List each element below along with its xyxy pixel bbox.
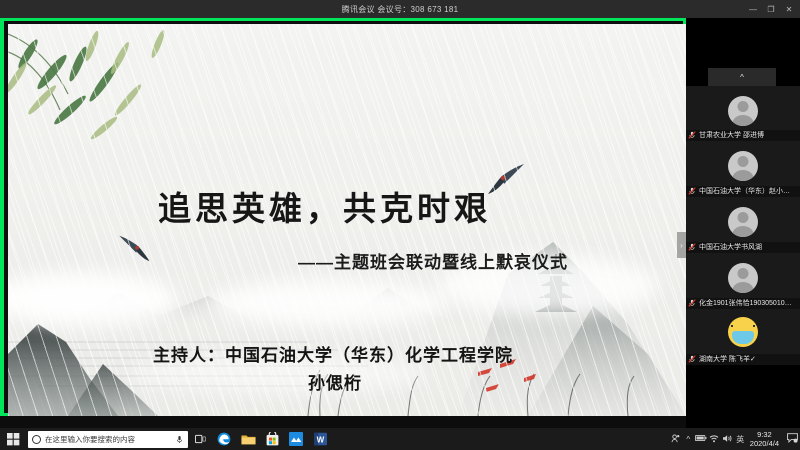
minimize-button[interactable]: — bbox=[744, 0, 762, 18]
show-hidden-icons-button[interactable]: ^ bbox=[682, 435, 695, 444]
scroll-up-button[interactable]: ^ bbox=[708, 68, 776, 86]
action-center-icon bbox=[787, 433, 798, 443]
taskbar-clock[interactable]: 9:32 2020/4/4 bbox=[750, 430, 779, 448]
taskbar-app-file-explorer[interactable] bbox=[236, 428, 260, 450]
mic-muted-icon bbox=[688, 355, 696, 363]
participant-name: 湖南大学 陈飞羊✓ bbox=[686, 354, 800, 365]
wifi-icon[interactable] bbox=[708, 434, 721, 445]
participant-video-rail: ^ 甘肃农业大学 邵进博 中国石油大学（华东）赵小… 中国石油大学书风湖 bbox=[686, 18, 800, 432]
taskbar-app-microsoft-store[interactable] bbox=[260, 428, 284, 450]
notifications-button[interactable] bbox=[784, 433, 800, 445]
avatar bbox=[728, 151, 758, 181]
people-icon[interactable] bbox=[669, 434, 682, 445]
slide-title: 追思英雄，共克时艰 bbox=[158, 182, 498, 230]
participant-name: 中国石油大学书风湖 bbox=[686, 242, 800, 253]
people-glyph bbox=[671, 434, 680, 443]
volume-icon[interactable] bbox=[721, 434, 734, 445]
participant-name: 甘肃农业大学 邵进博 bbox=[686, 130, 800, 141]
taskbar-app-edge[interactable] bbox=[212, 428, 236, 450]
participant-tile[interactable]: 甘肃农业大学 邵进博 bbox=[686, 86, 800, 141]
avatar bbox=[728, 263, 758, 293]
meeting-app-icon bbox=[289, 432, 303, 446]
taskbar-app-word[interactable]: W bbox=[308, 428, 332, 450]
cortana-circle-icon bbox=[32, 435, 41, 444]
battery-glyph bbox=[695, 434, 707, 442]
windows-logo-icon bbox=[7, 433, 20, 446]
store-icon bbox=[266, 432, 279, 446]
edge-icon bbox=[217, 432, 231, 446]
participant-tile[interactable]: 湖南大学 陈飞羊✓ bbox=[686, 309, 800, 365]
mic-muted-icon bbox=[688, 131, 696, 139]
slide-subtitle: ——主题班会联动暨线上默哀仪式 bbox=[298, 248, 568, 273]
avatar bbox=[728, 207, 758, 237]
clock-date: 2020/4/4 bbox=[750, 439, 779, 448]
mic-muted-icon bbox=[688, 187, 696, 195]
presentation-slide[interactable]: 追思英雄，共克时艰 ——主题班会联动暨线上默哀仪式 主持人：中国石油大学（华东）… bbox=[8, 24, 686, 416]
window-title: 腾讯会议 会议号：308 673 181 bbox=[342, 4, 459, 15]
avatar bbox=[728, 96, 758, 126]
svg-text:W: W bbox=[316, 435, 324, 444]
folder-icon bbox=[241, 433, 256, 446]
taskview-button[interactable] bbox=[188, 428, 212, 450]
meeting-window-body: 追思英雄，共克时艰 ——主题班会联动暨线上默哀仪式 主持人：中国石油大学（华东）… bbox=[0, 18, 800, 432]
volume-glyph bbox=[722, 434, 733, 443]
maximize-button[interactable]: ❐ bbox=[762, 0, 780, 18]
close-button[interactable]: ✕ bbox=[780, 0, 798, 18]
clock-time: 9:32 bbox=[750, 430, 779, 439]
search-input[interactable]: 在这里输入你要搜索的内容 bbox=[45, 434, 135, 445]
participant-name: 中国石油大学（华东）赵小… bbox=[686, 186, 800, 197]
window-controls: — ❐ ✕ bbox=[744, 0, 798, 18]
battery-icon[interactable] bbox=[695, 434, 708, 444]
participant-name: 化金1901张伟恰190305010… bbox=[686, 298, 800, 309]
shared-screen-frame: 追思英雄，共克时艰 ——主题班会联动暨线上默哀仪式 主持人：中国石油大学（华东）… bbox=[0, 18, 686, 416]
mic-muted-icon bbox=[688, 299, 696, 307]
participant-tile[interactable]: 中国石油大学书风湖 bbox=[686, 197, 800, 253]
mic-muted-icon bbox=[688, 243, 696, 251]
start-button[interactable] bbox=[0, 428, 26, 450]
taskbar-app-meeting[interactable] bbox=[284, 428, 308, 450]
search-box[interactable]: 在这里输入你要搜索的内容 bbox=[28, 431, 188, 448]
participant-tile[interactable]: 中国石油大学（华东）赵小… bbox=[686, 141, 800, 197]
system-tray: ^ 英 9:32 2020/4/4 bbox=[669, 428, 800, 450]
avatar bbox=[728, 317, 758, 347]
slide-host-name: 孙偲桁 bbox=[308, 369, 362, 394]
search-mic-icon[interactable] bbox=[176, 435, 183, 444]
panel-collapse-handle[interactable]: › bbox=[677, 232, 686, 258]
word-icon: W bbox=[314, 432, 327, 446]
participant-tile[interactable]: 化金1901张伟恰190305010… bbox=[686, 253, 800, 309]
windows-taskbar: 在这里输入你要搜索的内容 bbox=[0, 428, 800, 450]
task-view-icon bbox=[195, 434, 206, 444]
window-title-bar: 腾讯会议 会议号：308 673 181 — ❐ ✕ bbox=[0, 0, 800, 18]
slide-host-line: 主持人：中国石油大学（华东）化学工程学院 bbox=[153, 341, 513, 366]
wifi-glyph bbox=[709, 434, 719, 443]
ime-icon[interactable]: 英 bbox=[734, 434, 747, 445]
